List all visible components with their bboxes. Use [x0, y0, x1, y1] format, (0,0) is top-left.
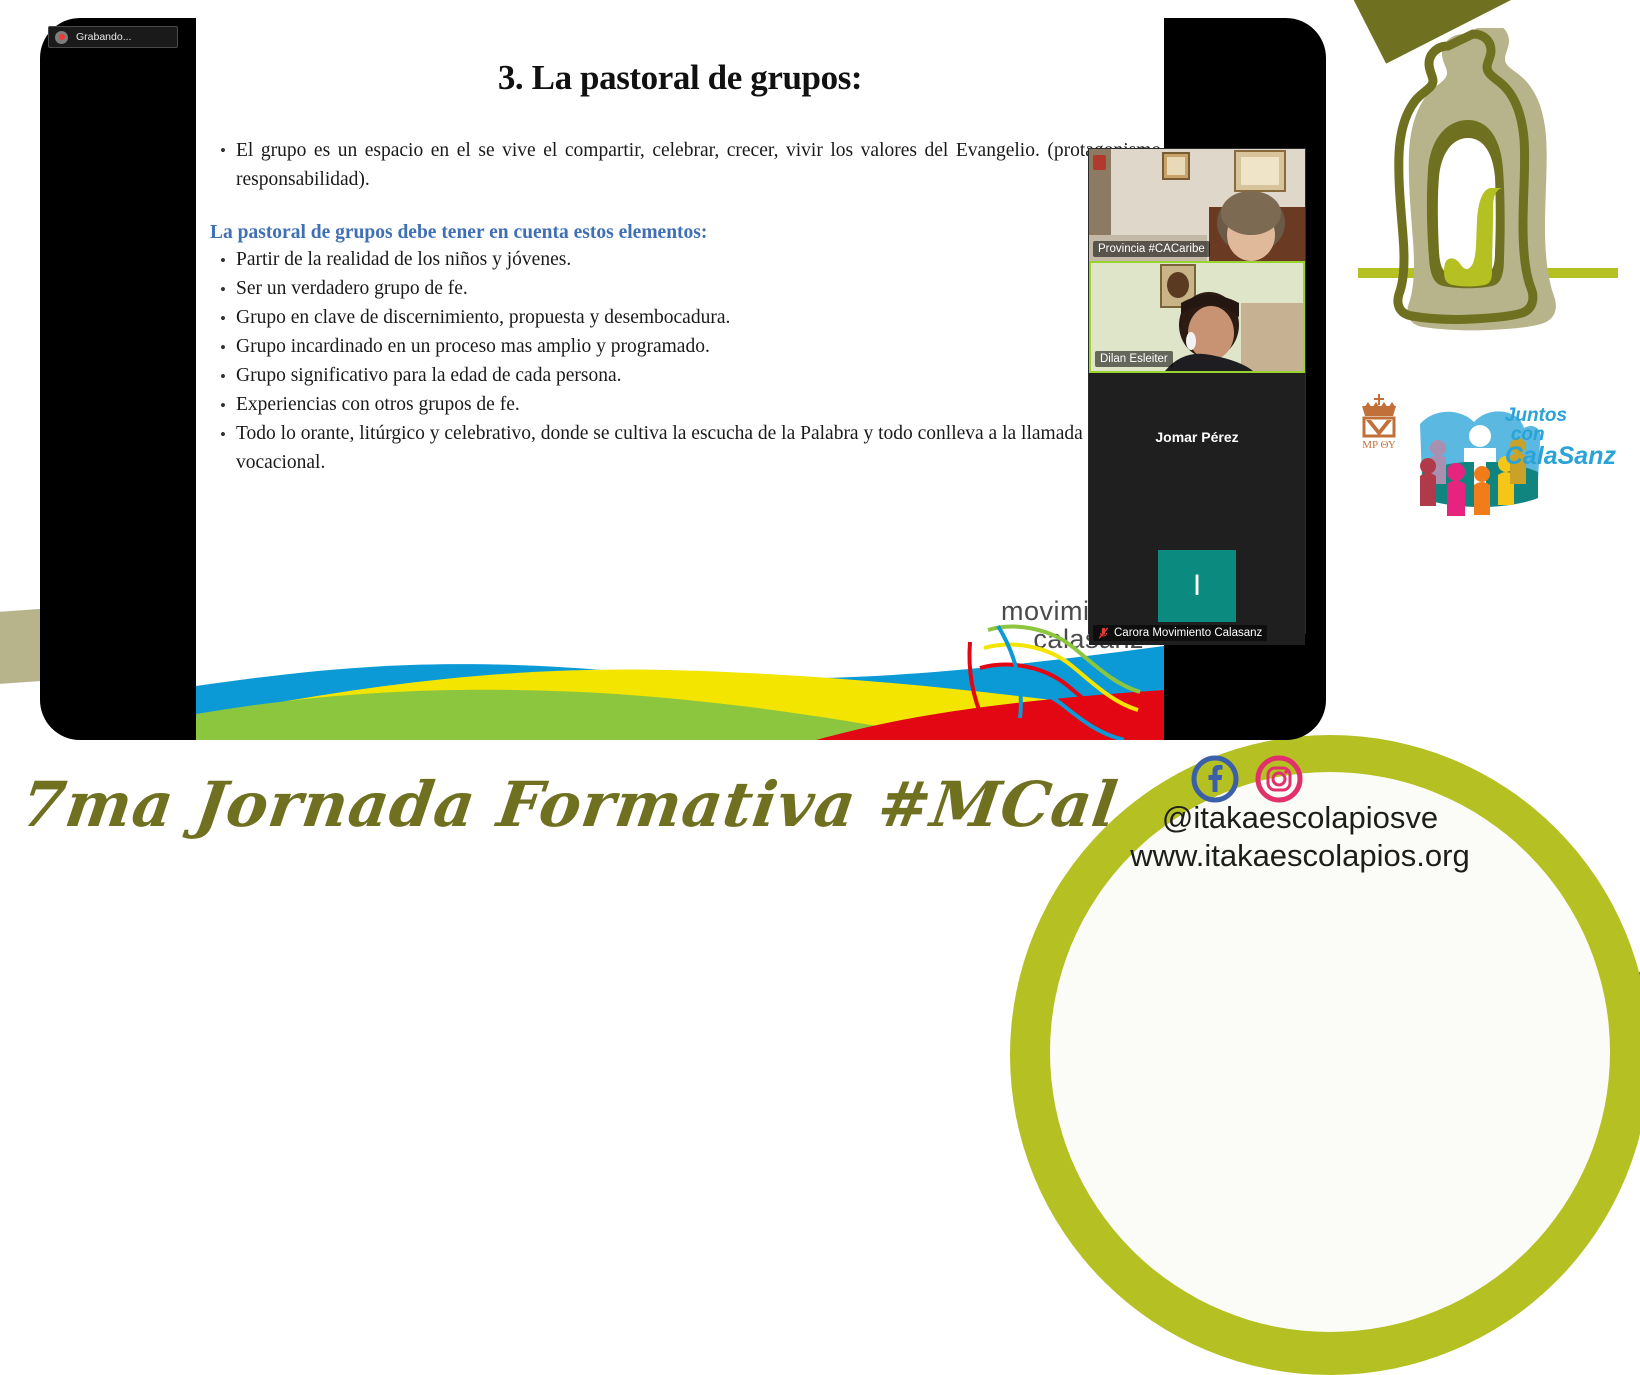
list-item: • Grupo significativo para la edad de ca…: [210, 362, 1164, 391]
participant-name-tag: Carora Movimiento Calasanz: [1093, 625, 1267, 641]
event-title: 7ma Jornada Formativa #MCal: [17, 768, 1123, 841]
zoom-participant-strip[interactable]: Provincia #CACaribe Dilan Esleiter Jomar…: [1088, 148, 1306, 634]
recording-badge[interactable]: Grabando...: [48, 26, 178, 48]
list-item-label: Partir de la realidad de los niños y jóv…: [236, 246, 1164, 275]
recording-label: Grabando...: [76, 31, 131, 43]
list-item: • Experiencias con otros grupos de fe.: [210, 391, 1164, 420]
facebook-icon[interactable]: [1190, 754, 1240, 804]
slide-intro-bullet: • El grupo es un espacio en el se vive e…: [210, 136, 1164, 194]
slide-section-heading: La pastoral de grupos debe tener en cuen…: [210, 222, 1164, 244]
list-item: • Grupo en clave de discernimiento, prop…: [210, 304, 1164, 333]
participant-tile[interactable]: Jomar Pérez Jomar Pérez: [1089, 373, 1305, 501]
list-item: • Ser un verdadero grupo de fe.: [210, 275, 1164, 304]
participant-name: Carora Movimiento Calasanz: [1114, 627, 1262, 639]
bullet-glyph: •: [210, 304, 236, 333]
instagram-icon[interactable]: [1254, 754, 1304, 804]
calasanz-figure-icon: [1352, 28, 1582, 340]
slide-bullet-list: • Partir de la realidad de los niños y j…: [210, 246, 1164, 477]
participant-name: Provincia #CACaribe: [1098, 243, 1205, 255]
slide-body: • El grupo es un espacio en el se vive e…: [210, 136, 1164, 477]
mic-muted-icon: [1098, 627, 1109, 639]
slide-wave-graphic: [196, 622, 1164, 740]
list-item-label: Grupo incardinado en un proceso mas ampl…: [236, 333, 1164, 362]
shared-slide: 3. La pastoral de grupos: • El grupo es …: [196, 18, 1164, 740]
avatar: I: [1158, 550, 1236, 622]
bullet-glyph: •: [210, 246, 236, 275]
participant-name-tag: Dilan Esleiter: [1095, 351, 1173, 367]
participant-tile[interactable]: Provincia #CACaribe: [1089, 149, 1305, 261]
list-item-label: Todo lo orante, litúrgico y celebrativo,…: [236, 420, 1164, 477]
piarist-emblem-icon: MP ΘΥ: [1362, 394, 1396, 451]
slide-title: 3. La pastoral de grupos:: [196, 58, 1164, 98]
list-item-label: Ser un verdadero grupo de fe.: [236, 275, 1164, 304]
participant-name: Dilan Esleiter: [1100, 353, 1168, 365]
list-item: • Todo lo orante, litúrgico y celebrativ…: [210, 420, 1164, 477]
list-item: • Grupo incardinado en un proceso mas am…: [210, 333, 1164, 362]
bullet-glyph: •: [210, 275, 236, 304]
participant-name: Jomar Pérez: [1155, 429, 1238, 445]
list-item-label: Experiencias con otros grupos de fe.: [236, 391, 1164, 420]
svg-text:MP ΘΥ: MP ΘΥ: [1362, 439, 1396, 451]
bullet-glyph: •: [210, 420, 236, 449]
jcc-line1: Juntos: [1505, 406, 1616, 425]
record-dot-icon: [55, 31, 68, 44]
social-links[interactable]: [1190, 755, 1330, 803]
list-item: • Partir de la realidad de los niños y j…: [210, 246, 1164, 275]
bullet-glyph: •: [210, 136, 236, 165]
list-item-label: Grupo significativo para la edad de cada…: [236, 362, 1164, 391]
jcc-line3: CalaSanz: [1505, 444, 1616, 469]
participant-name-tag: Provincia #CACaribe: [1093, 241, 1210, 257]
participant-tile[interactable]: I Carora Movimiento Calasanz: [1089, 527, 1305, 645]
slide-intro-text: El grupo es un espacio en el se vive el …: [236, 136, 1164, 194]
bullet-glyph: •: [210, 391, 236, 420]
bullet-glyph: •: [210, 333, 236, 362]
jcc-logo-text: Juntos con CalaSanz: [1505, 406, 1616, 469]
website-url[interactable]: www.itakaescolapios.org: [1020, 838, 1580, 874]
juntos-con-calasanz-logo: MP ΘΥ Juntos con CalaSanz: [1348, 388, 1616, 530]
list-item-label: Grupo en clave de discernimiento, propue…: [236, 304, 1164, 333]
bullet-glyph: •: [210, 362, 236, 391]
participant-tile[interactable]: Dilan Esleiter: [1089, 261, 1305, 373]
